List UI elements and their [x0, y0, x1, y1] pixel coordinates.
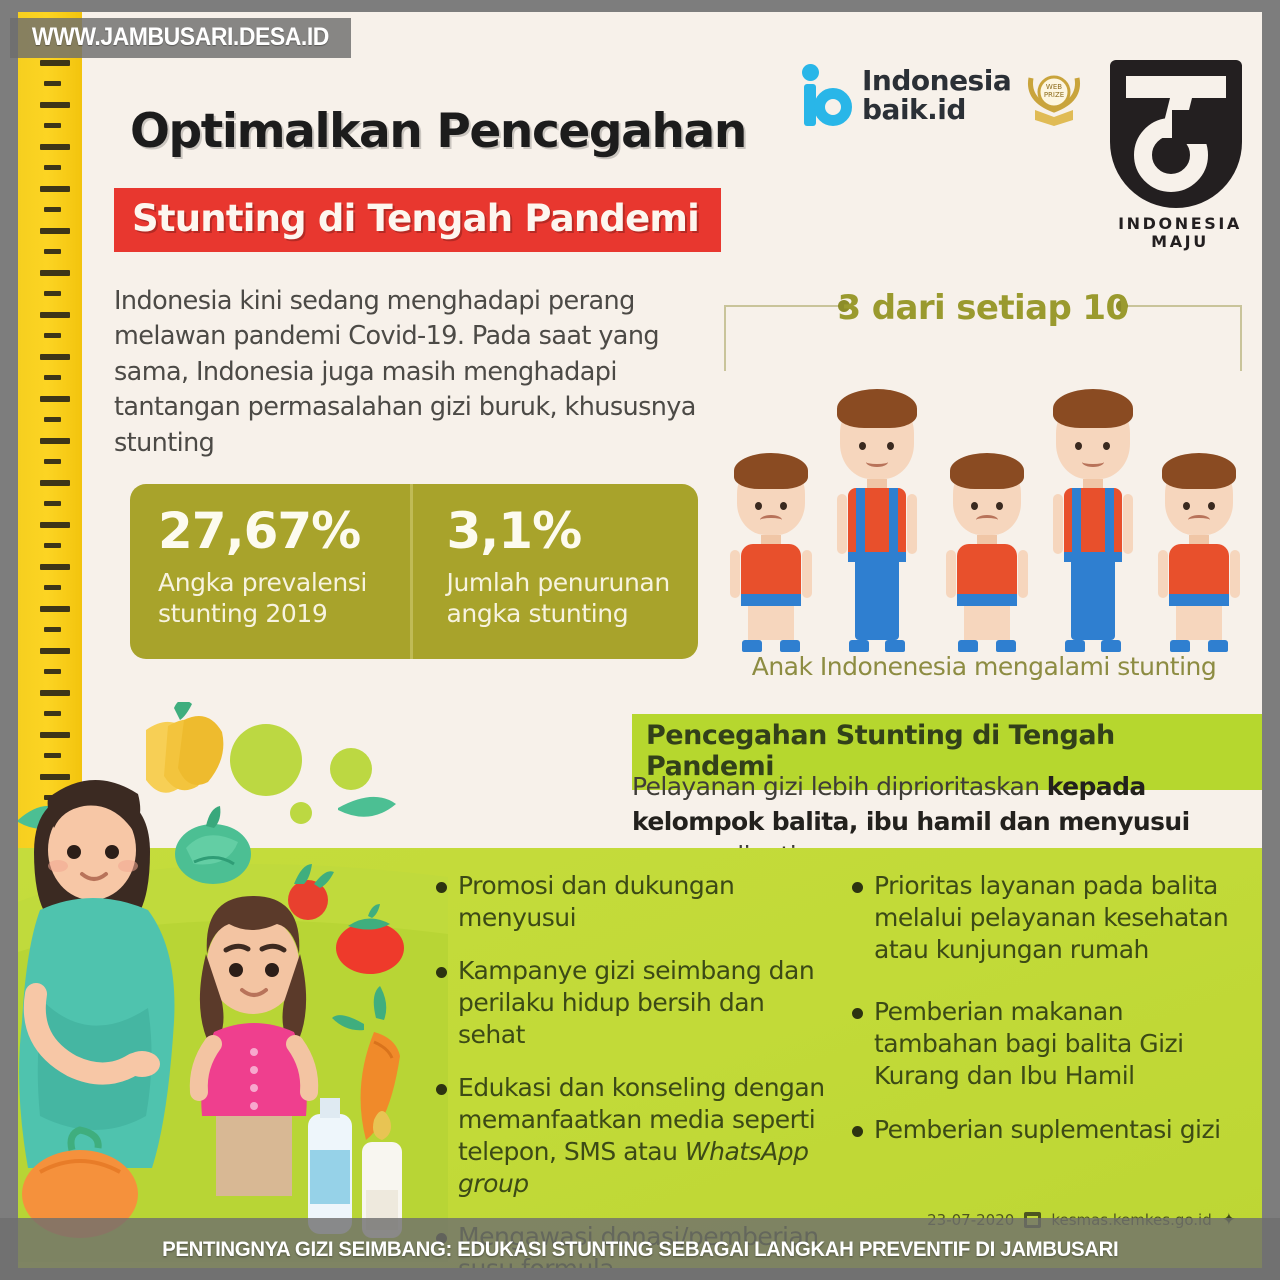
child-mouth: [1082, 457, 1104, 467]
ruler-tick: [40, 60, 70, 66]
child-figure-normal: [832, 395, 922, 652]
child-legs: [748, 606, 794, 640]
ruler-tick: [44, 81, 61, 86]
ruler-tick: [44, 207, 61, 212]
ratio-headline: 3 dari setiap 10: [837, 288, 1128, 328]
bullet-dot-icon: [852, 882, 863, 893]
ruler-tick: [44, 627, 61, 632]
child-shoes: [958, 640, 1016, 652]
child-shoes: [849, 640, 905, 652]
pregnant-mother-figure: [19, 780, 174, 1168]
leaf-icon: [338, 797, 396, 817]
bullet-dot-icon: [852, 1008, 863, 1019]
child-legs: [855, 562, 899, 640]
ruler-tick: [44, 417, 61, 422]
ruler-tick: [44, 291, 61, 296]
ruler-tick: [44, 459, 61, 464]
bullet-text: Prioritas layanan pada balita melalui pe…: [874, 870, 1242, 966]
child-hair: [950, 453, 1024, 489]
prevention-bullets: Promosi dan dukungan menyusui Kampanye g…: [436, 870, 1242, 1268]
site-watermark-text: WWW.JAMBUSARI.DESA.ID: [32, 23, 329, 52]
ratio-headline-wrap: 3 dari setiap 10: [718, 288, 1248, 334]
bullet-column-left: Promosi dan dukungan menyusui Kampanye g…: [436, 870, 826, 1268]
child-mouth: [1188, 515, 1210, 525]
ruler-tick: [40, 606, 70, 612]
child-figure-normal: [1048, 395, 1138, 652]
ruler-tick: [40, 270, 70, 276]
site-watermark: WWW.JAMBUSARI.DESA.ID: [10, 18, 351, 58]
logo-line-1: Indonesia: [862, 66, 1011, 95]
ruler-tick: [44, 543, 61, 548]
caption-text: PENTINGNYA GIZI SEIMBANG: EDUKASI STUNTI…: [162, 1237, 1118, 1262]
list-item: Edukasi dan konseling dengan memanfaatka…: [436, 1072, 826, 1200]
child-body: [1169, 544, 1229, 606]
child-body: [957, 544, 1017, 606]
cabbage-icon: [175, 806, 251, 884]
ruler-tick: [40, 396, 70, 402]
title-banner: Stunting di Tengah Pandemi: [114, 188, 721, 252]
bullet-dot-icon: [852, 1126, 863, 1137]
ruler-tick: [40, 522, 70, 528]
ruler-tick: [44, 585, 61, 590]
ruler-tick: [40, 480, 70, 486]
logo75-line-1: INDONESIA: [1110, 215, 1250, 233]
logo-line-2: baik.id: [862, 95, 1011, 124]
lead-plain-1: Pelayanan gizi lebih diprioritaskan: [632, 772, 1047, 801]
bullet-dot-icon: [436, 967, 447, 978]
mother-child-illustration: [18, 702, 448, 1262]
child-head: [1056, 395, 1130, 479]
bullet-dot-icon: [436, 1084, 447, 1095]
statistics-panel: 27,67% Angka prevalensi stunting 2019 3,…: [130, 484, 698, 659]
child-figure-stunted: [1154, 459, 1244, 652]
ruler-tick: [44, 501, 61, 506]
ruler-tick: [40, 648, 70, 654]
child-body: [741, 544, 801, 606]
ruler-tick: [44, 333, 61, 338]
ruler-tick: [44, 249, 61, 254]
child-neck: [867, 479, 887, 488]
ratio-section: 3 dari setiap 10: [718, 288, 1248, 334]
child-mouth: [866, 457, 888, 467]
child-head: [953, 459, 1021, 535]
child-head: [737, 459, 805, 535]
indonesia-baik-icon: [800, 64, 852, 126]
list-item: Kampanye gizi seimbang dan perilaku hidu…: [436, 955, 826, 1051]
bullet-text: Promosi dan dukungan menyusui: [458, 870, 826, 934]
stat-label: Jumlah penurunan angka stunting: [447, 568, 685, 629]
bullet-text: Kampanye gizi seimbang dan perilaku hidu…: [458, 955, 826, 1051]
title-banner-text: Stunting di Tengah Pandemi: [132, 197, 699, 240]
child-figure-stunted: [942, 459, 1032, 652]
infographic-poster: Optimalkan Pencegahan Stunting di Tengah…: [0, 0, 1280, 1280]
child-mouth: [760, 515, 782, 525]
child-mouth: [976, 515, 998, 525]
child-head: [1165, 459, 1233, 535]
stat-card-prevalence: 27,67% Angka prevalensi stunting 2019: [130, 484, 410, 659]
list-item: Promosi dan dukungan menyusui: [436, 870, 826, 934]
award-ribbon-icon: WEB PRIZE: [1023, 70, 1085, 128]
ruler-tick: [44, 165, 61, 170]
banana-icon: [146, 702, 223, 793]
child-legs: [964, 606, 1010, 640]
ruler-tick: [40, 438, 70, 444]
indonesia-maju-75-logo: INDONESIA MAJU: [1110, 60, 1250, 251]
shield-75-icon: [1110, 60, 1242, 208]
svg-text:PRIZE: PRIZE: [1044, 91, 1064, 99]
indonesia-baik-logo: Indonesia baik.id: [800, 64, 1011, 126]
ruler-tick: [40, 186, 70, 192]
bullet-text: Pemberian suplementasi gizi: [874, 1114, 1221, 1146]
stat-label: Angka prevalensi stunting 2019: [158, 568, 396, 629]
ruler-tick: [44, 375, 61, 380]
intro-paragraph: Indonesia kini sedang menghadapi perang …: [114, 284, 724, 461]
child-shoes: [1170, 640, 1228, 652]
child-neck: [977, 535, 997, 544]
poster-canvas: Optimalkan Pencegahan Stunting di Tengah…: [18, 12, 1262, 1268]
bullet-dot-icon: [436, 882, 447, 893]
list-item: Prioritas layanan pada balita melalui pe…: [852, 870, 1242, 966]
child-figure-stunted: [726, 459, 816, 652]
child-shoes: [1065, 640, 1121, 652]
child-shoes: [742, 640, 800, 652]
water-bottle-icon: [308, 1098, 352, 1234]
svg-text:WEB: WEB: [1046, 83, 1062, 91]
ruler-tick: [40, 690, 70, 696]
child-legs: [1176, 606, 1222, 640]
child-neck: [1189, 535, 1209, 544]
illustration-art: [18, 702, 448, 1262]
list-item: Pemberian makanan tambahan bagi balita G…: [852, 996, 1242, 1092]
child-legs: [1071, 562, 1115, 640]
page-title: Optimalkan Pencegahan: [130, 104, 746, 159]
child-neck: [761, 535, 781, 544]
ruler-tick: [40, 228, 70, 234]
list-item: Pemberian suplementasi gizi: [852, 1114, 1242, 1146]
child-hair: [1053, 389, 1133, 428]
ruler-tick: [44, 123, 61, 128]
child-body: [848, 488, 906, 562]
child-body: [1064, 488, 1122, 562]
ratio-caption: Anak Indonenesia mengalami stunting: [724, 652, 1244, 681]
child-head: [840, 395, 914, 479]
child-hair: [1162, 453, 1236, 489]
stat-value: 27,67%: [158, 506, 396, 556]
logo75-line-2: MAJU: [1110, 233, 1250, 251]
bullet-column-right: Prioritas layanan pada balita melalui pe…: [852, 870, 1242, 1268]
ruler-tick: [44, 669, 61, 674]
ruler-tick: [40, 564, 70, 570]
child-hair: [837, 389, 917, 428]
ruler-tick: [40, 354, 70, 360]
stat-value: 3,1%: [447, 506, 685, 556]
bullet-text: Pemberian makanan tambahan bagi balita G…: [874, 996, 1242, 1092]
child-neck: [1083, 479, 1103, 488]
caption-bar: PENTINGNYA GIZI SEIMBANG: EDUKASI STUNTI…: [0, 1218, 1280, 1280]
bullet-text: Edukasi dan konseling dengan memanfaatka…: [458, 1072, 826, 1200]
child-hair: [734, 453, 808, 489]
children-figures-group: [724, 352, 1244, 652]
ruler-tick: [40, 144, 70, 150]
ruler-tick: [40, 102, 70, 108]
ruler-tick: [40, 312, 70, 318]
stat-card-reduction: 3,1% Jumlah penurunan angka stunting: [410, 484, 699, 659]
